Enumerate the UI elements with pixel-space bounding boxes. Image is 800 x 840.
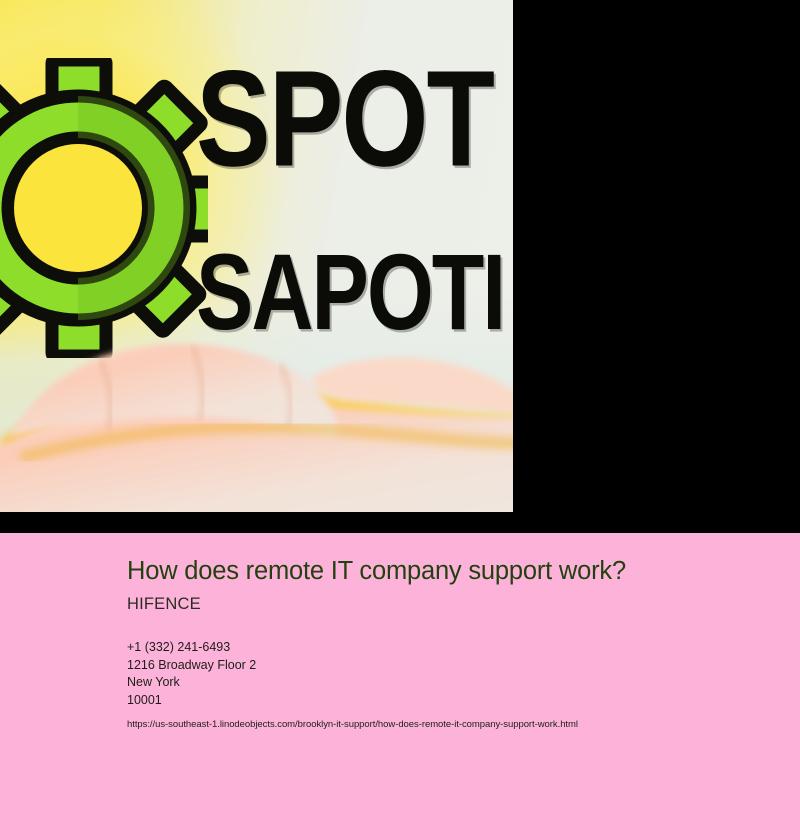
hero-image: SPOT SAPOTI [0,0,513,512]
brand-name: HIFENCE [127,595,776,614]
contact-city: New York [127,674,776,692]
contact-zip: 10001 [127,692,776,710]
content-panel: How does remote IT company support work?… [0,533,800,840]
gear-icon [0,58,208,358]
artwork-headline-line1: SPOT [196,52,513,186]
contact-street: 1216 Broadway Floor 2 [127,657,776,675]
hero-area: SPOT SAPOTI [0,0,800,533]
contact-phone[interactable]: +1 (332) 241-6493 [127,639,776,657]
page-root: SPOT SAPOTI [0,0,800,840]
contact-block: +1 (332) 241-6493 1216 Broadway Floor 2 … [127,639,776,709]
artwork-headline: SPOT SAPOTI [196,52,513,324]
page-title: How does remote IT company support work? [127,557,776,586]
open-hand-icon [0,318,513,512]
source-url[interactable]: https://us-southeast-1.linodeobjects.com… [127,718,776,731]
